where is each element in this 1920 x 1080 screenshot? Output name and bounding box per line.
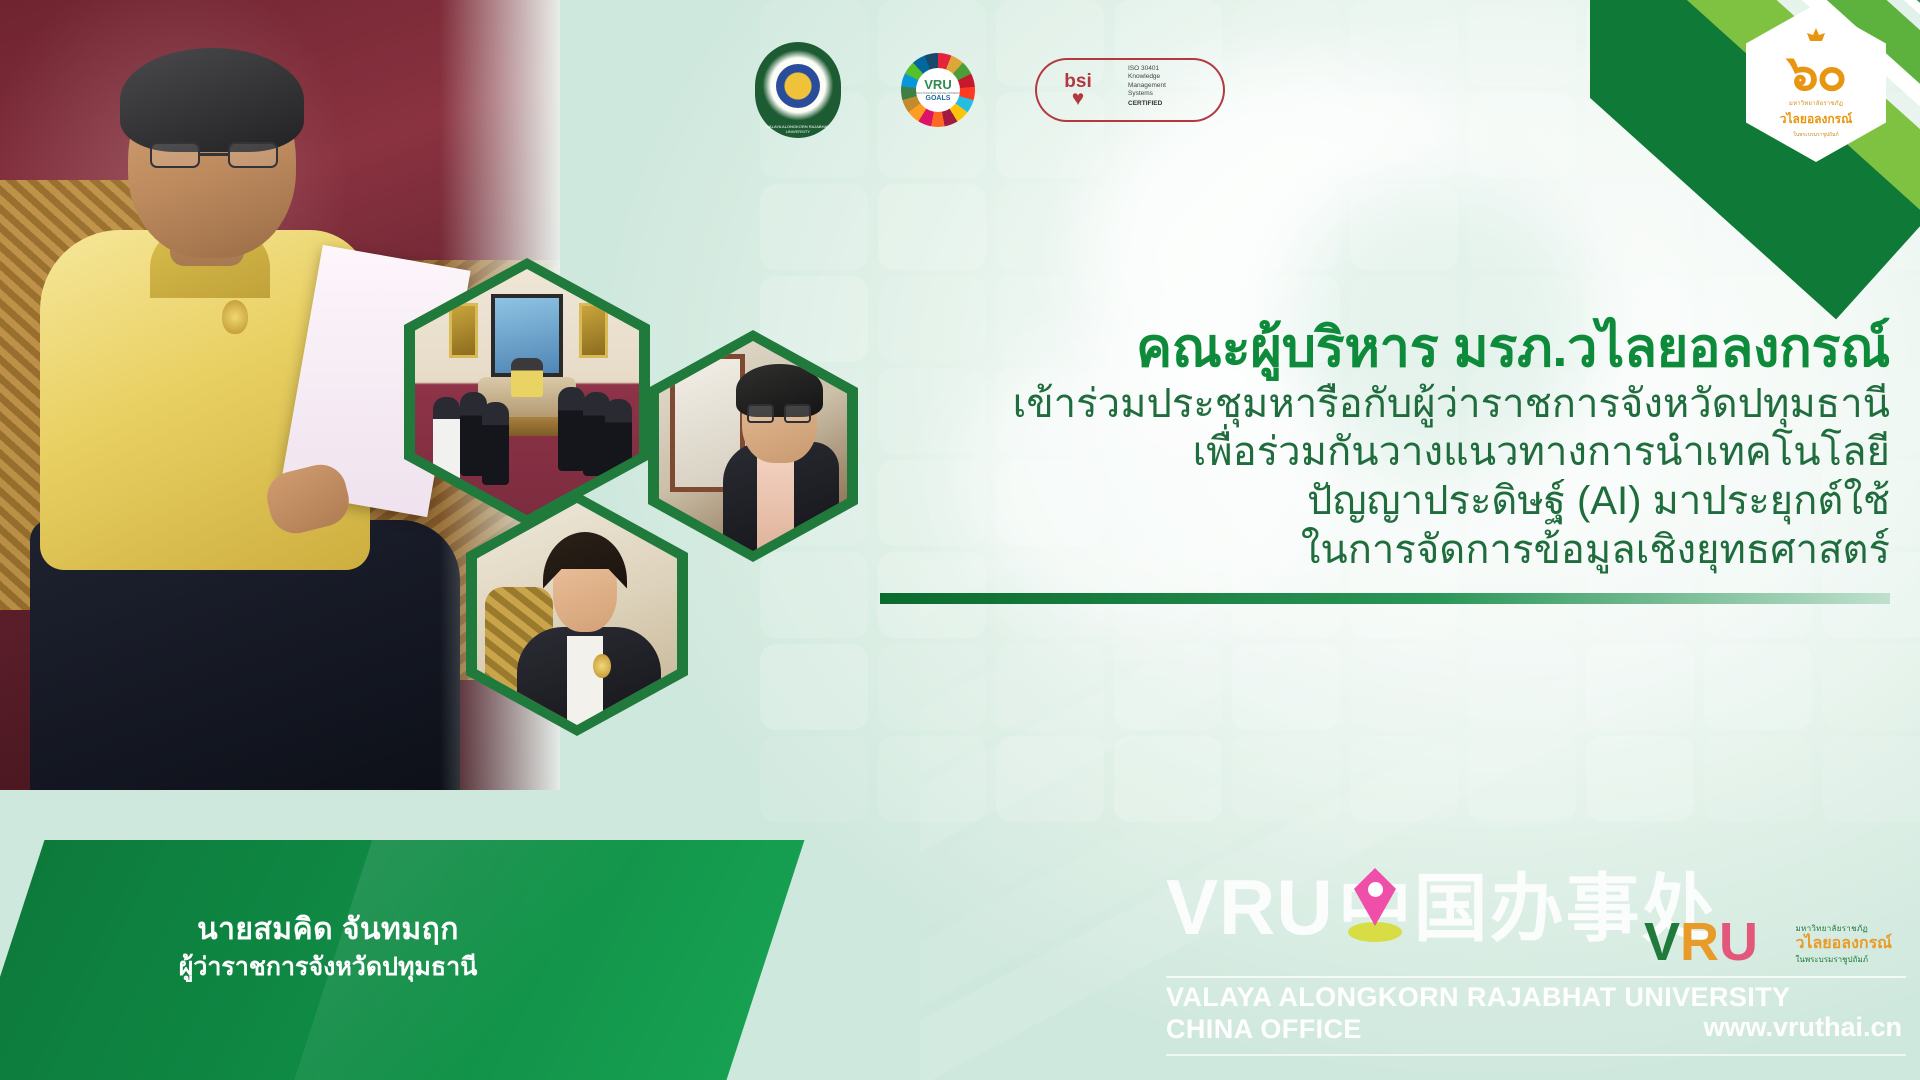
tile [1350, 644, 1458, 730]
brand-office-name: CHINA OFFICE [1166, 1014, 1362, 1045]
tile [1468, 92, 1576, 178]
tile [1468, 0, 1576, 86]
tile [1468, 644, 1576, 730]
caption-title: ผู้ว่าราชการจังหวัดปทุมธานี [118, 951, 538, 985]
tile [1704, 644, 1812, 730]
bsi-certification-logo: bsi ♥ ISO 30401 Knowledge Management Sys… [1035, 58, 1225, 122]
tile [1350, 0, 1458, 86]
brand-divider [1166, 976, 1906, 978]
seal-label: VALAYA ALONGKORN RAJABHAT UNIVERSITY [755, 124, 841, 134]
tile [1232, 644, 1340, 730]
tile [1114, 644, 1222, 730]
tile [878, 184, 986, 270]
tile [760, 184, 868, 270]
headline-text-block: คณะผู้บริหาร มรภ.วไลยอลงกรณ์ เข้าร่วมประ… [880, 318, 1890, 604]
caption-name: นายสมคิด จันทมฤก [118, 910, 538, 950]
location-pin-icon [1344, 866, 1406, 952]
tile [878, 736, 986, 822]
tile [1114, 184, 1222, 270]
bsi-line3: Systems [1128, 90, 1217, 98]
bsi-heart-icon: ♥ [1072, 91, 1084, 108]
tile [1114, 736, 1222, 822]
brand-university-name: VALAYA ALONGKORN RAJABHAT UNIVERSITY [1166, 982, 1790, 1013]
tile [1232, 184, 1340, 270]
bsi-standard: ISO 30401 [1128, 65, 1217, 73]
photo-hexagon-executive-male [648, 330, 858, 562]
eyeglasses-icon [150, 142, 278, 168]
anniversary-line1: มหาวิทยาลัยราชภัฏ [1789, 98, 1843, 108]
eyeglasses-icon [747, 404, 811, 423]
anniversary-line2: วไลยอลงกรณ์ [1780, 110, 1852, 129]
bsi-certified: CERTIFIED [1128, 100, 1217, 108]
body-line-3: ปัญญาประดิษฐ์ (AI) มาประยุกต์ใช้ [880, 477, 1890, 526]
tile [996, 736, 1104, 822]
vru-logo-u: U [1719, 920, 1758, 966]
tile [878, 644, 986, 730]
banner-canvas: ๖๐ มหาวิทยาลัยราชภัฏ วไลยอลงกรณ์ ในพระบร… [0, 0, 1920, 1080]
brand-divider-bottom [1166, 1054, 1906, 1056]
brand-wordmark: VRU 中国办事处 [1166, 868, 1718, 946]
sdg-wheel-logo: VRU SUSTAINABLE DEVELOPMENT GOALS [901, 53, 975, 127]
bsi-line1: Knowledge [1128, 73, 1217, 81]
page-title: คณะผู้บริหาร มรภ.วไลยอลงกรณ์ [880, 318, 1890, 380]
vru-logo-thai-text: มหาวิทยาลัยราชภัฏ วไลยอลงกรณ์ ในพระบรมรา… [1795, 922, 1892, 966]
headline-underline-rule [880, 593, 1890, 604]
tile [1468, 736, 1576, 822]
body-line-2: เพื่อร่วมกันวางแนวทางการนำเทคโนโลยี [880, 428, 1890, 477]
tile [996, 644, 1104, 730]
vru-logo-thai-bot: ในพระบรมราชูปถัมภ์ [1795, 953, 1892, 966]
tile [1350, 736, 1458, 822]
tile [1350, 92, 1458, 178]
anniversary-line3: ในพระบรมราชูปถัมภ์ [1793, 131, 1838, 139]
vru-logo-r: R [1680, 920, 1719, 966]
vru-colored-logo: V R U [1644, 920, 1758, 966]
anniversary-numeral: ๖๐ [1787, 51, 1845, 96]
bsi-line2: Management [1128, 82, 1217, 90]
tile [1586, 736, 1694, 822]
tile [1232, 736, 1340, 822]
university-seal-logo: VALAYA ALONGKORN RAJABHAT UNIVERSITY [755, 42, 841, 138]
tile [1822, 644, 1920, 730]
brand-footer: VRU 中国办事处 V R U มหาวิทยาลัยราชภัฏ วไลยอล… [1166, 872, 1906, 1062]
logo-row: VALAYA ALONGKORN RAJABHAT UNIVERSITY VRU… [755, 42, 1225, 138]
tile [1232, 92, 1340, 178]
tile [1468, 184, 1576, 270]
body-line-4: ในการจัดการข้อมูลเชิงยุทธศาสตร์ [880, 526, 1890, 575]
streak [920, 560, 1920, 863]
sdg-goals: GOALS [926, 95, 951, 102]
brand-wordmark-en: VRU [1166, 868, 1334, 946]
tile [1822, 736, 1920, 822]
vru-logo-thai-top: มหาวิทยาลัยราชภัฏ [1795, 922, 1892, 935]
vru-logo-thai-mid: วไลยอลงกรณ์ [1795, 935, 1892, 953]
tile [1232, 0, 1340, 86]
brand-website-url[interactable]: www.vruthai.cn [1703, 1012, 1902, 1043]
body-line-1: เข้าร่วมประชุมหารือกับผู้ว่าราชการจังหวั… [880, 380, 1890, 429]
sdg-title: VRU [924, 78, 951, 91]
tile [1586, 644, 1694, 730]
tile [1704, 736, 1812, 822]
tile [760, 552, 868, 638]
vru-logo-v: V [1644, 920, 1680, 966]
tile [1350, 184, 1458, 270]
tile [996, 184, 1104, 270]
caption-panel: นายสมคิด จันทมฤก ผู้ว่าราชการจังหวัดปทุม… [0, 780, 860, 1080]
tile [760, 644, 868, 730]
